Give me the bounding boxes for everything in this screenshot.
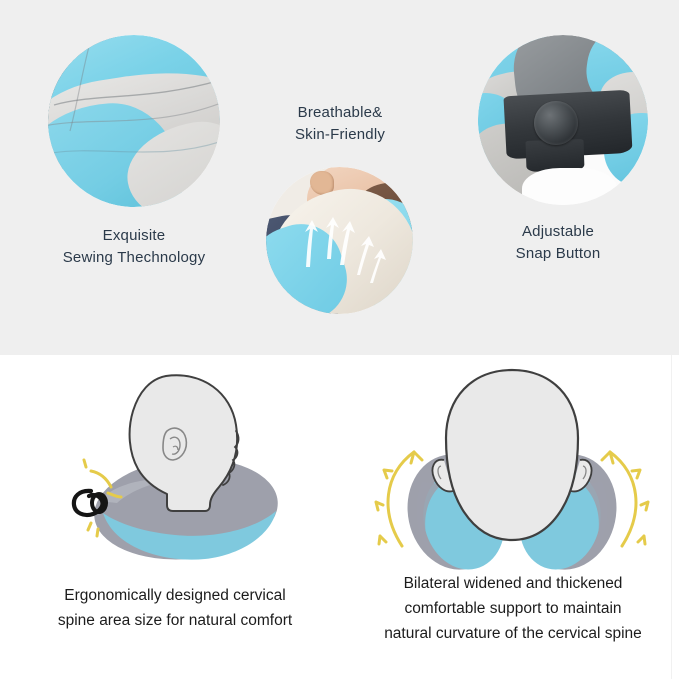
- caption-exquisite-sewing-technology: Exquisite Sewing Thechnology: [22, 225, 246, 269]
- top-features-section: Exquisite Sewing Thechnology Breathable&…: [0, 0, 679, 355]
- caption-ergonomic-cervical-spine: Ergonomically designed cervical spine ar…: [10, 583, 340, 633]
- seam-stitch-lines: [48, 35, 220, 207]
- side-profile-head-with-pillow-diagram: [55, 363, 315, 573]
- caption-adjustable-snap-button: Adjustable Snap Button: [450, 221, 666, 265]
- photo-bottom-highlight: [522, 168, 617, 205]
- airflow-arrows-icon: [266, 167, 413, 314]
- bottom-diagrams-section: Ergonomically designed cervical spine ar…: [0, 355, 679, 679]
- head-front: [446, 370, 578, 540]
- caption-bilateral-widened-support: Bilateral widened and thickened comforta…: [352, 571, 674, 646]
- photo-clip-mask: [478, 35, 648, 205]
- right-edge-divider: [671, 355, 672, 679]
- product-infographic: Exquisite Sewing Thechnology Breathable&…: [0, 0, 679, 679]
- front-view-head-with-pillow-diagram: [372, 360, 652, 572]
- snap-button-strap-closeup-photo: [478, 35, 648, 205]
- person-resting-on-pillow-photo: [266, 167, 413, 314]
- pillow-panel-closeup-photo: [48, 35, 220, 207]
- snap-loop-icon: [74, 491, 106, 515]
- caption-breathable-skin-friendly: Breathable& Skin-Friendly: [262, 102, 418, 146]
- photo-clip-mask: [48, 35, 220, 207]
- photo-clip-mask: [266, 167, 413, 314]
